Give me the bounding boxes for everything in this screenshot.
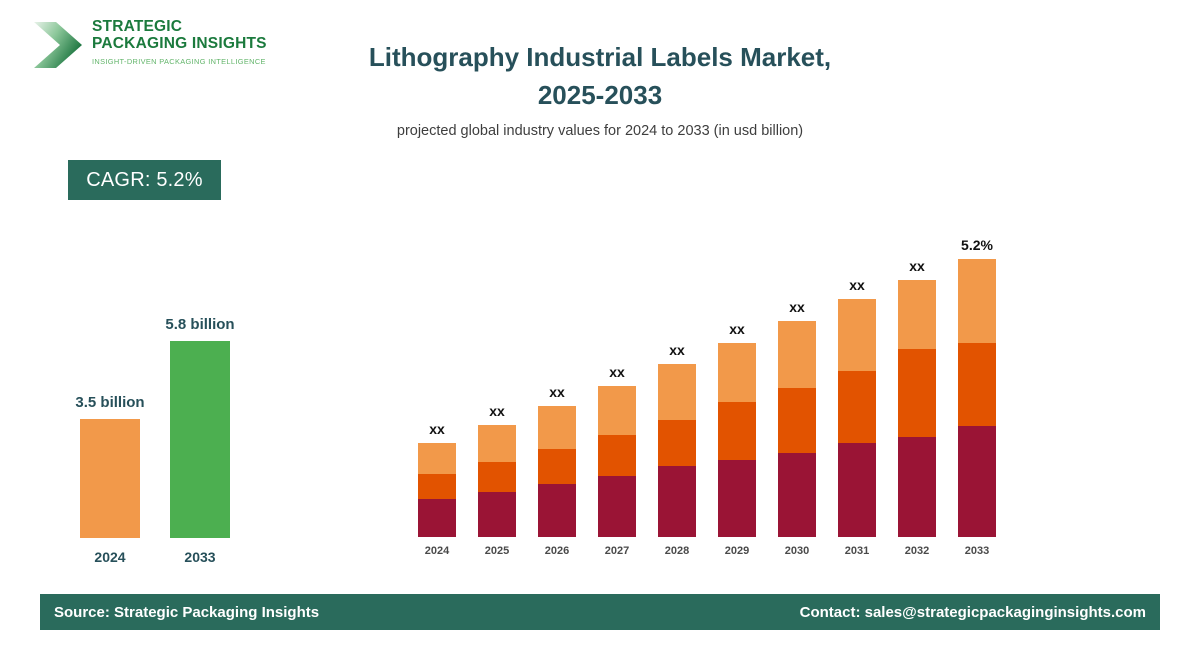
stacked-bar-segment-bottom <box>538 484 576 537</box>
stacked-bar-group: xx2029 <box>718 200 756 560</box>
stacked-bar-top-label: xx <box>687 321 787 337</box>
stacked-bar-segment-top <box>658 364 696 420</box>
stacked-bar-segment-middle <box>898 349 936 436</box>
stacked-bar-segment-bottom <box>418 499 456 537</box>
stacked-bar-segment-bottom <box>958 426 996 537</box>
chart-title-line-1: Lithography Industrial Labels Market, <box>300 38 900 76</box>
mini-bar-year-label: 2024 <box>60 549 160 565</box>
stacked-bar-segment-middle <box>418 474 456 499</box>
stacked-bar-segment-top <box>478 425 516 462</box>
stacked-bar-segment-middle <box>778 388 816 454</box>
endpoint-comparison-chart: 3.5 billion20245.8 billion2033 <box>55 300 265 575</box>
stacked-bar-top-label: xx <box>627 342 727 358</box>
page-title: Lithography Industrial Labels Market, 20… <box>300 38 900 140</box>
segment-stack-forecast-chart: xx2024xx2025xx2026xx2027xx2028xx2029xx20… <box>400 200 1020 560</box>
stacked-bar-segment-middle <box>718 402 756 460</box>
mini-bar-value-label: 5.8 billion <box>136 316 264 333</box>
stacked-bar-group: xx2032 <box>898 200 936 560</box>
mini-bar-value-label: 3.5 billion <box>46 394 174 411</box>
stacked-bar-segment-bottom <box>838 443 876 537</box>
chart-title-line-2: 2025-2033 <box>300 76 900 114</box>
stacked-bar-segment-bottom <box>658 466 696 537</box>
stacked-bar-top-label: xx <box>807 277 907 293</box>
stacked-bar-segment-top <box>898 280 936 349</box>
stacked-bar <box>658 364 696 537</box>
stacked-bar-top-label: 5.2% <box>927 237 1027 253</box>
mini-bar-group: 3.5 billion2024 <box>80 300 140 575</box>
stacked-bar-group: xx2027 <box>598 200 636 560</box>
stacked-bar-segment-top <box>958 259 996 343</box>
chevron-arrow-icon <box>32 18 84 72</box>
stacked-bar-segment-middle <box>478 462 516 492</box>
stacked-bar-group: xx2024 <box>418 200 456 560</box>
footer-bar: Source: Strategic Packaging Insights Con… <box>40 594 1160 630</box>
stacked-bar-group: xx2030 <box>778 200 816 560</box>
stacked-bar <box>478 425 516 537</box>
stacked-bar-group: xx2031 <box>838 200 876 560</box>
stacked-bar-segment-middle <box>838 371 876 443</box>
mini-bar <box>80 419 140 538</box>
stacked-bar-segment-bottom <box>898 437 936 537</box>
stacked-bar <box>418 443 456 537</box>
brand-logo: STRATEGIC PACKAGING INSIGHTS INSIGHT-DRI… <box>30 14 260 76</box>
stacked-bar-year-label: 2033 <box>937 545 1017 557</box>
stacked-bar <box>778 321 816 537</box>
stacked-bar-top-label: xx <box>387 421 487 437</box>
stacked-bar-segment-top <box>838 299 876 371</box>
stacked-bar-top-label: xx <box>507 384 607 400</box>
stacked-bar-group: xx2026 <box>538 200 576 560</box>
stacked-bar-top-label: xx <box>747 299 847 315</box>
stacked-bar-segment-bottom <box>478 492 516 537</box>
stacked-bar <box>898 280 936 537</box>
stacked-bar-group: 5.2%2033 <box>958 200 996 560</box>
stacked-bar-segment-top <box>418 443 456 474</box>
stacked-bar <box>838 299 876 537</box>
stacked-bar-segment-bottom <box>778 453 816 537</box>
stacked-bar-segment-top <box>538 406 576 449</box>
stacked-bar-segment-bottom <box>718 460 756 537</box>
stacked-bar-segment-middle <box>538 449 576 484</box>
cagr-badge: CAGR: 5.2% <box>68 160 221 200</box>
stacked-bar <box>958 259 996 537</box>
mini-bar-group: 5.8 billion2033 <box>170 300 230 575</box>
stacked-bar-segment-middle <box>658 420 696 466</box>
stacked-bar-top-label: xx <box>867 258 967 274</box>
stacked-bar <box>718 343 756 537</box>
stacked-bar-segment-top <box>778 321 816 388</box>
stacked-bar-group: xx2028 <box>658 200 696 560</box>
footer-contact: Contact: sales@strategicpackaginginsight… <box>800 604 1146 621</box>
stacked-bar-segment-top <box>598 386 636 435</box>
stacked-bar-segment-middle <box>958 343 996 425</box>
brand-name-line-2: PACKAGING INSIGHTS <box>92 35 267 52</box>
stacked-bar-segment-middle <box>598 435 636 476</box>
stacked-bar <box>598 386 636 537</box>
mini-bar <box>170 341 230 538</box>
chart-subtitle: projected global industry values for 202… <box>300 122 900 140</box>
brand-name-line-1: STRATEGIC <box>92 18 267 35</box>
mini-bar-year-label: 2033 <box>150 549 250 565</box>
stacked-bar-top-label: xx <box>447 403 547 419</box>
stacked-bar-top-label: xx <box>567 364 667 380</box>
brand-wordmark: STRATEGIC PACKAGING INSIGHTS INSIGHT-DRI… <box>92 18 267 68</box>
brand-tagline: INSIGHT-DRIVEN PACKAGING INTELLIGENCE <box>92 56 267 68</box>
footer-source: Source: Strategic Packaging Insights <box>54 604 319 621</box>
stacked-bar-segment-top <box>718 343 756 402</box>
stacked-bar-group: xx2025 <box>478 200 516 560</box>
stacked-bar <box>538 406 576 537</box>
stacked-bar-segment-bottom <box>598 476 636 537</box>
